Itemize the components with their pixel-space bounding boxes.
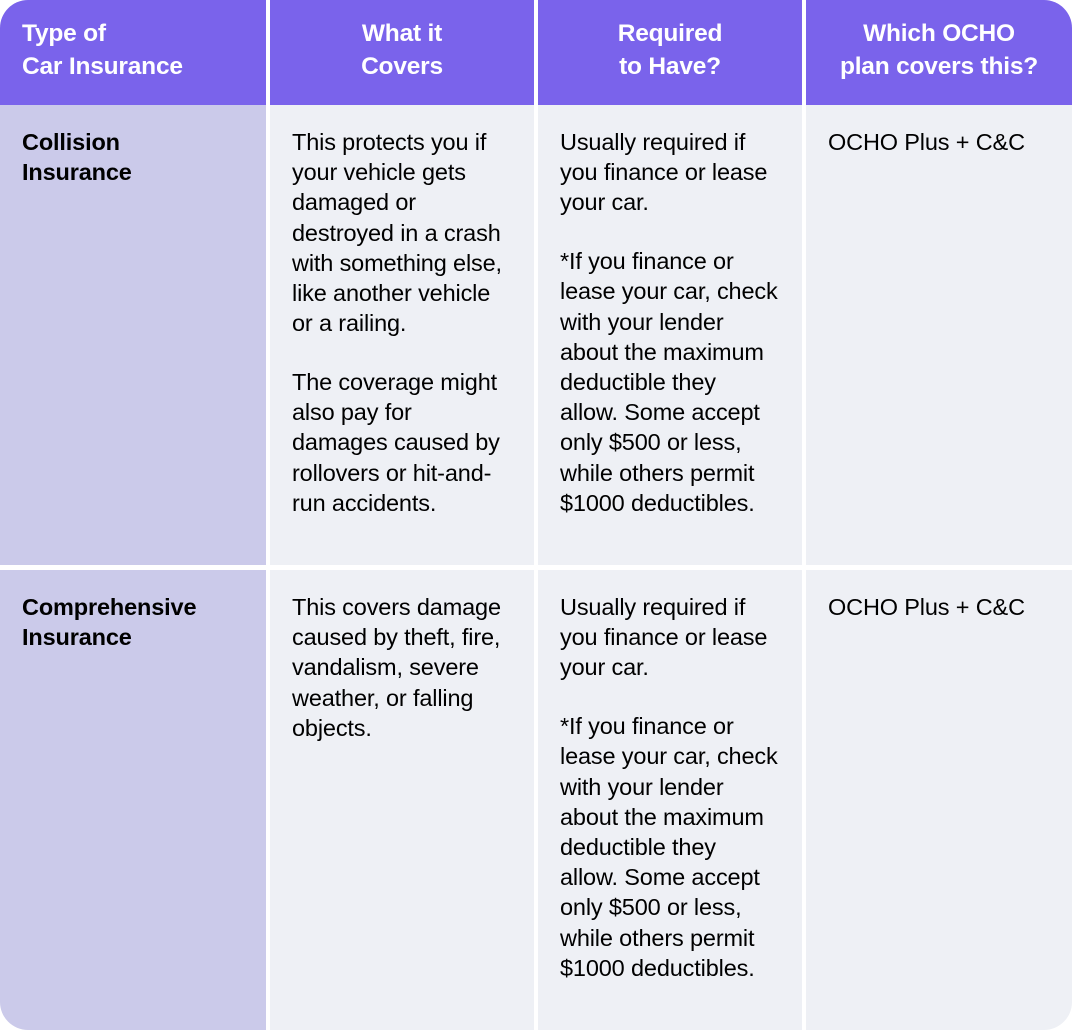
required-paragraph-1: Usually required if you finance or lease…: [560, 592, 780, 683]
ocho-plan-value: OCHO Plus + C&C: [828, 592, 1050, 622]
insurance-comparison-table: Type of Car Insurance What it Covers Req…: [0, 0, 1072, 1030]
cell-required-to-have: Usually required if you finance or lease…: [538, 570, 802, 1030]
column-header-line-1: Type of: [22, 20, 106, 47]
column-header-line-2: Covers: [361, 53, 443, 80]
column-header-line-2: Car Insurance: [22, 53, 183, 80]
cell-insurance-type: Collision Insurance: [0, 105, 266, 565]
table-row: Comprehensive Insurance This covers dama…: [0, 570, 1072, 1030]
covers-paragraph-1: This covers damage caused by theft, fire…: [292, 592, 512, 743]
table-row: Collision Insurance This protects you if…: [0, 105, 1072, 565]
column-header-line-2: to Have?: [619, 53, 721, 80]
covers-paragraph-1: This protects you if your vehicle gets d…: [292, 127, 512, 338]
column-header-line-1: What it: [362, 20, 442, 47]
insurance-type-line-2: Insurance: [22, 624, 132, 650]
column-header-required-to-have: Required to Have?: [538, 0, 802, 105]
column-header-type-of-car-insurance: Type of Car Insurance: [0, 0, 266, 105]
column-header-line-1: Which OCHO: [863, 20, 1015, 47]
cell-ocho-plan: OCHO Plus + C&C: [806, 570, 1072, 1030]
cell-required-to-have: Usually required if you finance or lease…: [538, 105, 802, 565]
insurance-type-line-2: Insurance: [22, 159, 132, 185]
column-header-what-it-covers: What it Covers: [270, 0, 534, 105]
ocho-plan-value: OCHO Plus + C&C: [828, 127, 1050, 157]
cell-what-it-covers: This protects you if your vehicle gets d…: [270, 105, 534, 565]
column-header-which-ocho-plan: Which OCHO plan covers this?: [806, 0, 1072, 105]
column-header-line-1: Required: [618, 20, 723, 47]
insurance-type-line-1: Comprehensive: [22, 594, 196, 620]
cell-what-it-covers: This covers damage caused by theft, fire…: [270, 570, 534, 1030]
column-header-line-2: plan covers this?: [840, 53, 1038, 80]
cell-insurance-type: Comprehensive Insurance: [0, 570, 266, 1030]
cell-ocho-plan: OCHO Plus + C&C: [806, 105, 1072, 565]
covers-paragraph-2: The coverage might also pay for damages …: [292, 367, 512, 518]
required-paragraph-1: Usually required if you finance or lease…: [560, 127, 780, 218]
insurance-type-line-1: Collision: [22, 129, 120, 155]
required-paragraph-2: *If you finance or lease your car, check…: [560, 246, 780, 518]
table-header-row: Type of Car Insurance What it Covers Req…: [0, 0, 1072, 105]
required-paragraph-2: *If you finance or lease your car, check…: [560, 711, 780, 983]
